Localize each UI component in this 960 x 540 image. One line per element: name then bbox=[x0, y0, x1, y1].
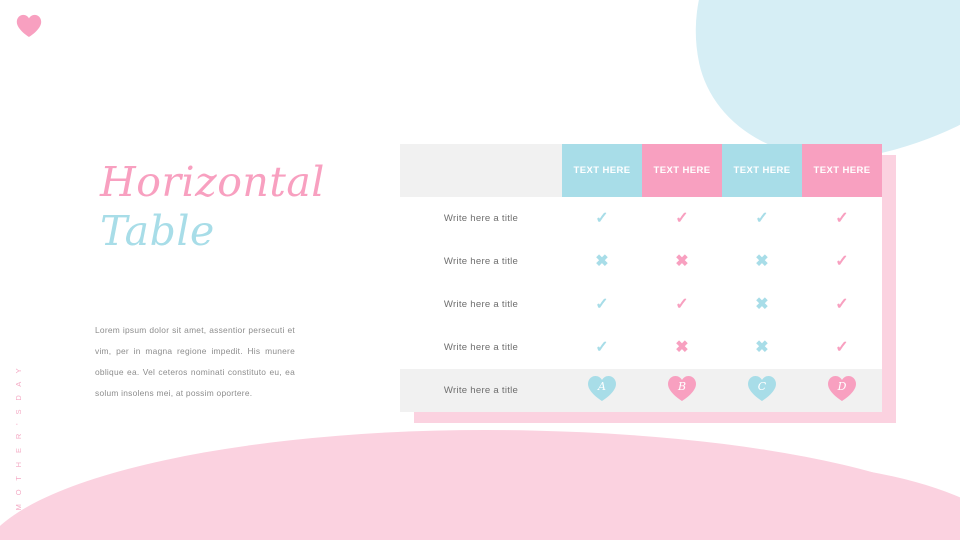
heart-badge-letter: D bbox=[827, 375, 857, 402]
heart-badge-icon: C bbox=[747, 375, 777, 402]
heart-badge-icon: A bbox=[587, 375, 617, 402]
heart-badge-icon: B bbox=[667, 375, 697, 402]
page-title-line-2: Table bbox=[100, 207, 400, 256]
table-row: Write here a title A bbox=[400, 369, 882, 412]
table-cell: ✓ bbox=[562, 197, 642, 240]
check-icon: ✓ bbox=[755, 211, 768, 227]
table-row-label: Write here a title bbox=[400, 197, 562, 240]
heart-badge-icon: D bbox=[827, 375, 857, 402]
table-cell: ✖ bbox=[642, 326, 722, 369]
heart-icon bbox=[16, 14, 42, 38]
table-cell: ✓ bbox=[802, 326, 882, 369]
table-row-label: Write here a title bbox=[400, 240, 562, 283]
check-icon: ✓ bbox=[835, 254, 848, 270]
cross-icon: ✖ bbox=[755, 297, 768, 313]
table-header-row: TEXT HERE TEXT HERE TEXT HERE TEXT HERE bbox=[400, 144, 882, 197]
table-header-blank bbox=[400, 144, 562, 197]
heart-badge-letter: C bbox=[747, 375, 777, 402]
comparison-table: TEXT HERE TEXT HERE TEXT HERE TEXT HERE … bbox=[400, 144, 882, 412]
cross-icon: ✖ bbox=[675, 340, 688, 356]
heart-badge-letter: A bbox=[587, 375, 617, 402]
table-cell: ✓ bbox=[802, 197, 882, 240]
body-paragraph: Lorem ipsum dolor sit amet, assentior pe… bbox=[95, 320, 295, 404]
table-header: TEXT HERE TEXT HERE TEXT HERE TEXT HERE bbox=[400, 144, 882, 197]
cross-icon: ✖ bbox=[755, 340, 768, 356]
table-header-cell-2: TEXT HERE bbox=[642, 144, 722, 197]
check-icon: ✓ bbox=[835, 340, 848, 356]
table-cell: ✓ bbox=[722, 197, 802, 240]
table-header-cell-4: TEXT HERE bbox=[802, 144, 882, 197]
page-title-line-1: Horizontal bbox=[100, 158, 400, 207]
table-cell: ✓ bbox=[802, 283, 882, 326]
slide-canvas: M O T H E R ' S D A Y Horizontal Table L… bbox=[0, 0, 960, 540]
table-cell: ✖ bbox=[562, 240, 642, 283]
check-icon: ✓ bbox=[595, 340, 608, 356]
cross-icon: ✖ bbox=[595, 254, 608, 270]
table-cell: ✖ bbox=[642, 240, 722, 283]
check-icon: ✓ bbox=[595, 297, 608, 313]
table-row: Write here a title ✖ ✖ ✖ ✓ bbox=[400, 240, 882, 283]
table-row: Write here a title ✓ ✖ ✖ ✓ bbox=[400, 326, 882, 369]
table-row-label: Write here a title bbox=[400, 369, 562, 412]
table-cell: ✖ bbox=[722, 283, 802, 326]
check-icon: ✓ bbox=[675, 211, 688, 227]
table-cell: A bbox=[562, 369, 642, 412]
table-header-cell-1: TEXT HERE bbox=[562, 144, 642, 197]
table-header-cell-3: TEXT HERE bbox=[722, 144, 802, 197]
table-cell: ✖ bbox=[722, 240, 802, 283]
check-icon: ✓ bbox=[835, 297, 848, 313]
check-icon: ✓ bbox=[835, 211, 848, 227]
table-cell: ✓ bbox=[562, 326, 642, 369]
table-cell: D bbox=[802, 369, 882, 412]
table-cell: ✓ bbox=[802, 240, 882, 283]
side-label: M O T H E R ' S D A Y bbox=[14, 365, 23, 510]
table-row-label: Write here a title bbox=[400, 326, 562, 369]
page-title: Horizontal Table bbox=[100, 158, 400, 256]
table-cell: ✓ bbox=[642, 283, 722, 326]
table-row: Write here a title ✓ ✓ ✖ ✓ bbox=[400, 283, 882, 326]
table-cell: B bbox=[642, 369, 722, 412]
cross-icon: ✖ bbox=[675, 254, 688, 270]
check-icon: ✓ bbox=[595, 211, 608, 227]
table-row-label: Write here a title bbox=[400, 283, 562, 326]
table-body: Write here a title ✓ ✓ ✓ ✓ Write here a … bbox=[400, 197, 882, 412]
check-icon: ✓ bbox=[675, 297, 688, 313]
table-cell: ✖ bbox=[722, 326, 802, 369]
table-row: Write here a title ✓ ✓ ✓ ✓ bbox=[400, 197, 882, 240]
table-cell: ✓ bbox=[642, 197, 722, 240]
table-cell: ✓ bbox=[562, 283, 642, 326]
table-cell: C bbox=[722, 369, 802, 412]
cross-icon: ✖ bbox=[755, 254, 768, 270]
heart-badge-letter: B bbox=[667, 375, 697, 402]
comparison-table-container: TEXT HERE TEXT HERE TEXT HERE TEXT HERE … bbox=[400, 144, 882, 412]
